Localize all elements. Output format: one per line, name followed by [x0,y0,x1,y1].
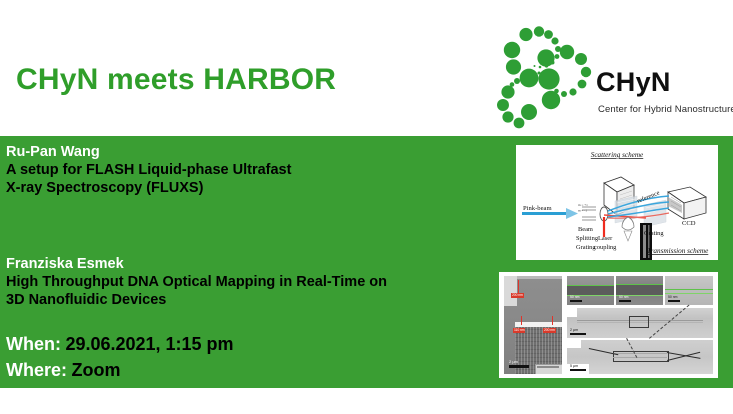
sem-scale-label: 50 nm [619,295,628,299]
talk-entry: Ru-Pan Wang A setup for FLASH Liquid-pha… [6,143,291,197]
page-title: CHyN meets HARBOR [16,63,336,97]
sem-scale-label: 2 µm [570,328,578,332]
chyn-logo-mark-icon [488,22,600,130]
sem-annotation: 110 nm [513,328,525,333]
sem-scale-bar [570,333,586,335]
talks-column: Ru-Pan Wang A setup for FLASH Liquid-pha… [0,136,500,388]
label-pink-beam: Pink-beam [523,205,552,212]
sem-annotation: 200 nm [511,293,524,298]
talk-title-line: High Throughput DNA Optical Mapping in R… [6,273,387,291]
talk-title-line: A setup for FLASH Liquid-phase Ultrafast [6,161,291,179]
figure-nanofluidic-sem-montage: 200 nm 110 nm 200 nm 2 µm [499,272,718,378]
sem-arrow [518,280,519,294]
sem-montage: 200 nm 110 nm 200 nm 2 µm [499,272,718,378]
slide-header: CHyN meets HARBOR [0,0,733,136]
sem-arrow [521,316,522,325]
sem-cross-section-cell: 50 nm [665,276,713,305]
sem-scale-bar [570,300,582,302]
label-ccd: CCD [682,220,696,227]
label-order-minus: m = -1 [578,209,587,213]
talk-entry: Franziska Esmek High Throughput DNA Opti… [6,255,387,309]
sem-scale-label: 50 nm [570,295,579,299]
sem-scale-bar [570,369,586,371]
label-grating: Grating [644,230,664,237]
event-details: When: 29.06.2021, 1:15 pm Where: Zoom [6,332,234,384]
detail-label: When: [6,334,61,354]
sem-cross-section-image: 200 nm 110 nm 200 nm 2 µm [504,276,562,374]
optical-scheme-diagram: Scattering scheme Pink-beam m = +1 m = -… [516,145,718,260]
sem-scale-bar [619,300,631,302]
figure-fluxs-optical-scheme: Scattering scheme Pink-beam m = +1 m = -… [516,145,718,260]
sem-notch [504,276,517,306]
sem-info-stamp [535,364,562,374]
chyn-wordmark: CHyN [596,69,671,96]
sem-cross-section-cell: 50 nm [616,276,663,305]
detail-value: Zoom [71,360,120,380]
label-scattering-scheme: Scattering scheme [591,151,644,159]
sem-scale-label: 50 nm [668,295,677,299]
speaker-name: Ru-Pan Wang [6,143,291,161]
chyn-tagline: Center for Hybrid Nanostructures [598,104,733,115]
sem-cross-section-cell: 50 nm [567,276,614,305]
sem-arrow [552,316,553,325]
sem-annotation: 200 nm [543,328,556,333]
label-transmission-scheme: Transmission scheme [647,247,709,255]
label-beam-splitting-grating: Splitting [576,235,599,242]
content-band: Ru-Pan Wang A setup for FLASH Liquid-pha… [0,136,733,388]
label-order-plus: m = +1 [578,203,588,207]
sem-scale-bar [668,300,680,302]
detail-where: Where: Zoom [6,358,234,384]
sem-scale-label: 2 µm [509,359,518,364]
detail-value: 29.06.2021, 1:15 pm [65,334,233,354]
detail-label: Where: [6,360,67,380]
talk-title-line: X-ray Spectroscopy (FLUXS) [6,179,291,197]
label-laser-coupling: coupling [594,244,617,251]
chyn-logo: CHyN Center for Hybrid Nanostructures [488,22,733,134]
talk-title-line: 3D Nanofluidic Devices [6,291,387,309]
slide-root: CHyN meets HARBOR [0,0,733,414]
sem-right-group: 50 nm 50 nm 50 [567,276,713,374]
sem-scale-bar [509,365,529,368]
speaker-name: Franziska Esmek [6,255,387,273]
label-beam-splitting-grating: Beam [578,226,593,233]
detail-when: When: 29.06.2021, 1:15 pm [6,332,234,358]
sem-scale-label: 5 µm [570,364,578,368]
sem-funnel-strip: 5 µm [567,340,713,374]
label-laser-coupling: Laser [598,235,613,242]
sem-channel-cross-sections: 50 nm 50 nm 50 [567,276,713,305]
sem-overview-strip: 2 µm [567,308,713,338]
